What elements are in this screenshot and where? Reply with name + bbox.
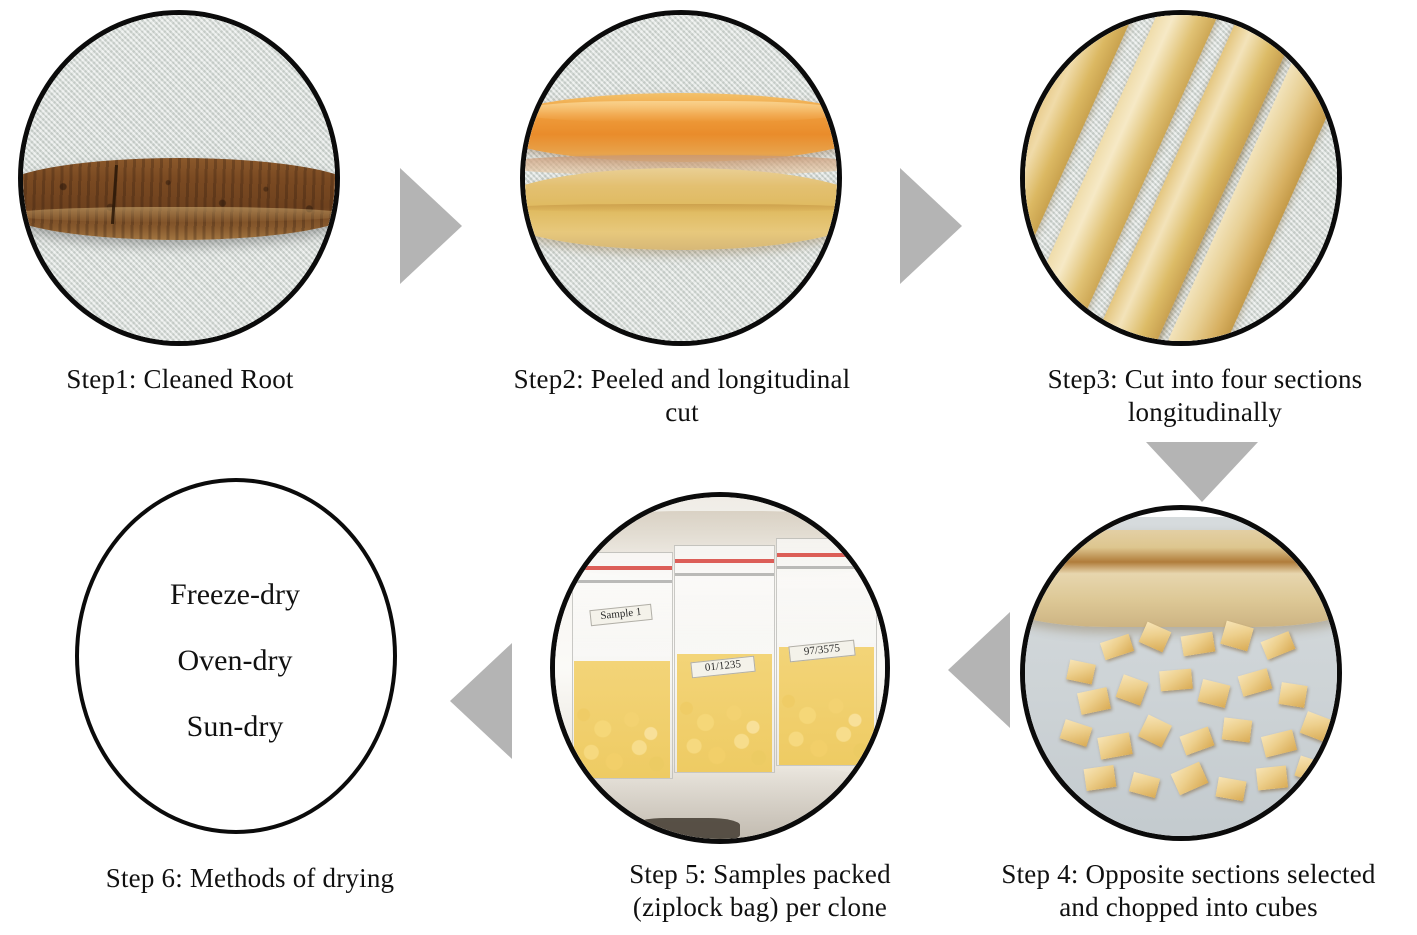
cube-pile	[1056, 618, 1342, 820]
step2-circle	[520, 10, 842, 346]
bag-contents-1	[574, 661, 669, 778]
arrow-step4-to-step5	[948, 612, 1010, 728]
step1-circle	[18, 10, 340, 346]
drying-method-freeze: Freeze-dry	[95, 580, 375, 610]
arrow-step2-to-step3	[900, 168, 962, 284]
drying-method-sun: Sun-dry	[95, 712, 375, 742]
arrow-step3-to-step4	[1146, 442, 1258, 502]
drying-method-oven: Oven-dry	[95, 646, 375, 676]
ziplock-bag-2: 01/1235	[674, 545, 775, 773]
zip-seal-3	[777, 553, 876, 557]
step1-caption: Step1: Cleaned Root	[0, 363, 360, 396]
zip-track-3	[777, 566, 876, 569]
zip-seal-2	[675, 559, 774, 563]
cleaned-root-photo	[23, 15, 335, 341]
bag-label-1: Sample 1	[590, 604, 653, 626]
zip-seal-1	[573, 566, 672, 570]
step5-caption: Step 5: Samples packed (ziplock bag) per…	[560, 858, 960, 924]
root-body	[18, 158, 340, 240]
drying-methods-list: Freeze-dry Oven-dry Sun-dry	[95, 580, 375, 742]
step2-caption: Step2: Peeled and longitudinal cut	[462, 363, 902, 429]
zip-track-1	[573, 580, 672, 583]
chopped-cubes-photo	[1025, 510, 1337, 836]
four-sections-photo	[1025, 15, 1337, 341]
ziplock-bags-photo: Sample 1 01/1235 97/3575	[555, 497, 885, 839]
peeled-half-lower	[520, 168, 842, 250]
arrow-step5-to-step6	[450, 643, 512, 759]
step5-circle: Sample 1 01/1235 97/3575	[550, 492, 890, 844]
ziplock-bag-3: 97/3575	[776, 538, 877, 766]
ziplock-bag-1: Sample 1	[572, 552, 673, 780]
step3-caption: Step3: Cut into four sections longitudin…	[985, 363, 1417, 429]
root-texture	[18, 158, 340, 240]
peeled-half-upper	[520, 93, 842, 161]
table-edge	[634, 818, 740, 842]
step4-circle	[1020, 505, 1342, 841]
step4-caption: Step 4: Opposite sections selected and c…	[960, 858, 1417, 924]
step3-circle	[1020, 10, 1342, 346]
bag-contents-3	[779, 647, 874, 764]
zip-track-2	[675, 573, 774, 576]
cassava-slab	[1020, 530, 1342, 628]
peeled-longitudinal-cut-photo	[525, 15, 837, 341]
figure-canvas: Step1: Cleaned Root Step2: Peeled and lo…	[0, 0, 1417, 935]
step6-caption: Step 6: Methods of drying	[60, 862, 440, 895]
arrow-step1-to-step2	[400, 168, 462, 284]
